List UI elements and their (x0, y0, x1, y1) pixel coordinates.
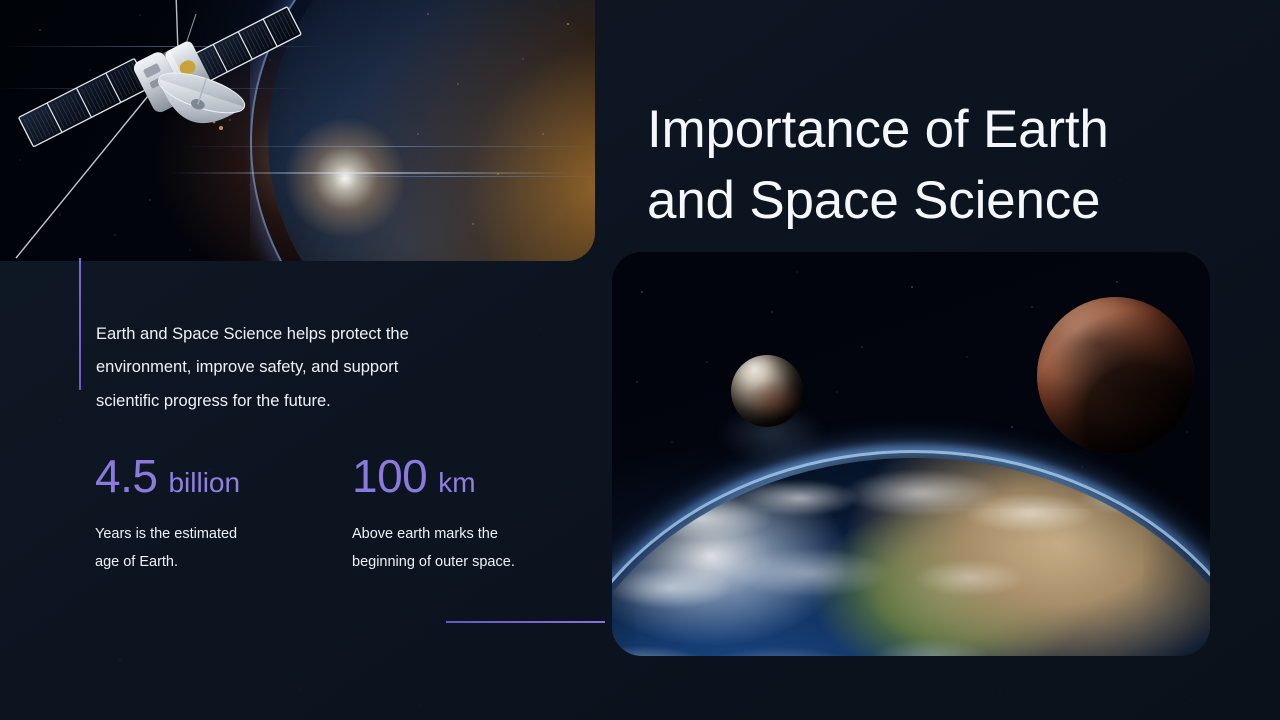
accent-vertical-line (79, 258, 81, 390)
stat-value-row: 4.5 billion (95, 452, 352, 500)
moon-body (731, 355, 803, 427)
stat-number: 4.5 (95, 452, 157, 500)
stat-number: 100 (352, 452, 427, 500)
satellite-icon (0, 0, 595, 261)
accent-horizontal-line (446, 621, 605, 623)
slide-root: Importance of Earth and Space Science Ea… (0, 0, 1280, 720)
stat-value-row: 100 km (352, 452, 609, 500)
body-paragraph: Earth and Space Science helps protect th… (96, 318, 516, 419)
stat-unit: km (438, 468, 475, 498)
page-title: Importance of Earth and Space Science (647, 94, 1247, 236)
hero-image-satellite-earth (0, 0, 595, 261)
space-image-earth-moon-mars (612, 252, 1210, 656)
stat-item-outer-space-altitude: 100 km Above earth marks the beginning o… (352, 452, 609, 576)
mars-terminator-shadow (1037, 297, 1194, 454)
moon-surface-tint (731, 355, 803, 427)
stat-description: Years is the estimated age of Earth. (95, 520, 352, 576)
stat-description: Above earth marks the beginning of outer… (352, 520, 609, 576)
stat-unit: billion (168, 468, 240, 498)
stat-item-age-of-earth: 4.5 billion Years is the estimated age o… (95, 452, 352, 576)
mars-planet (1037, 297, 1194, 454)
statistics-group: 4.5 billion Years is the estimated age o… (95, 452, 609, 576)
